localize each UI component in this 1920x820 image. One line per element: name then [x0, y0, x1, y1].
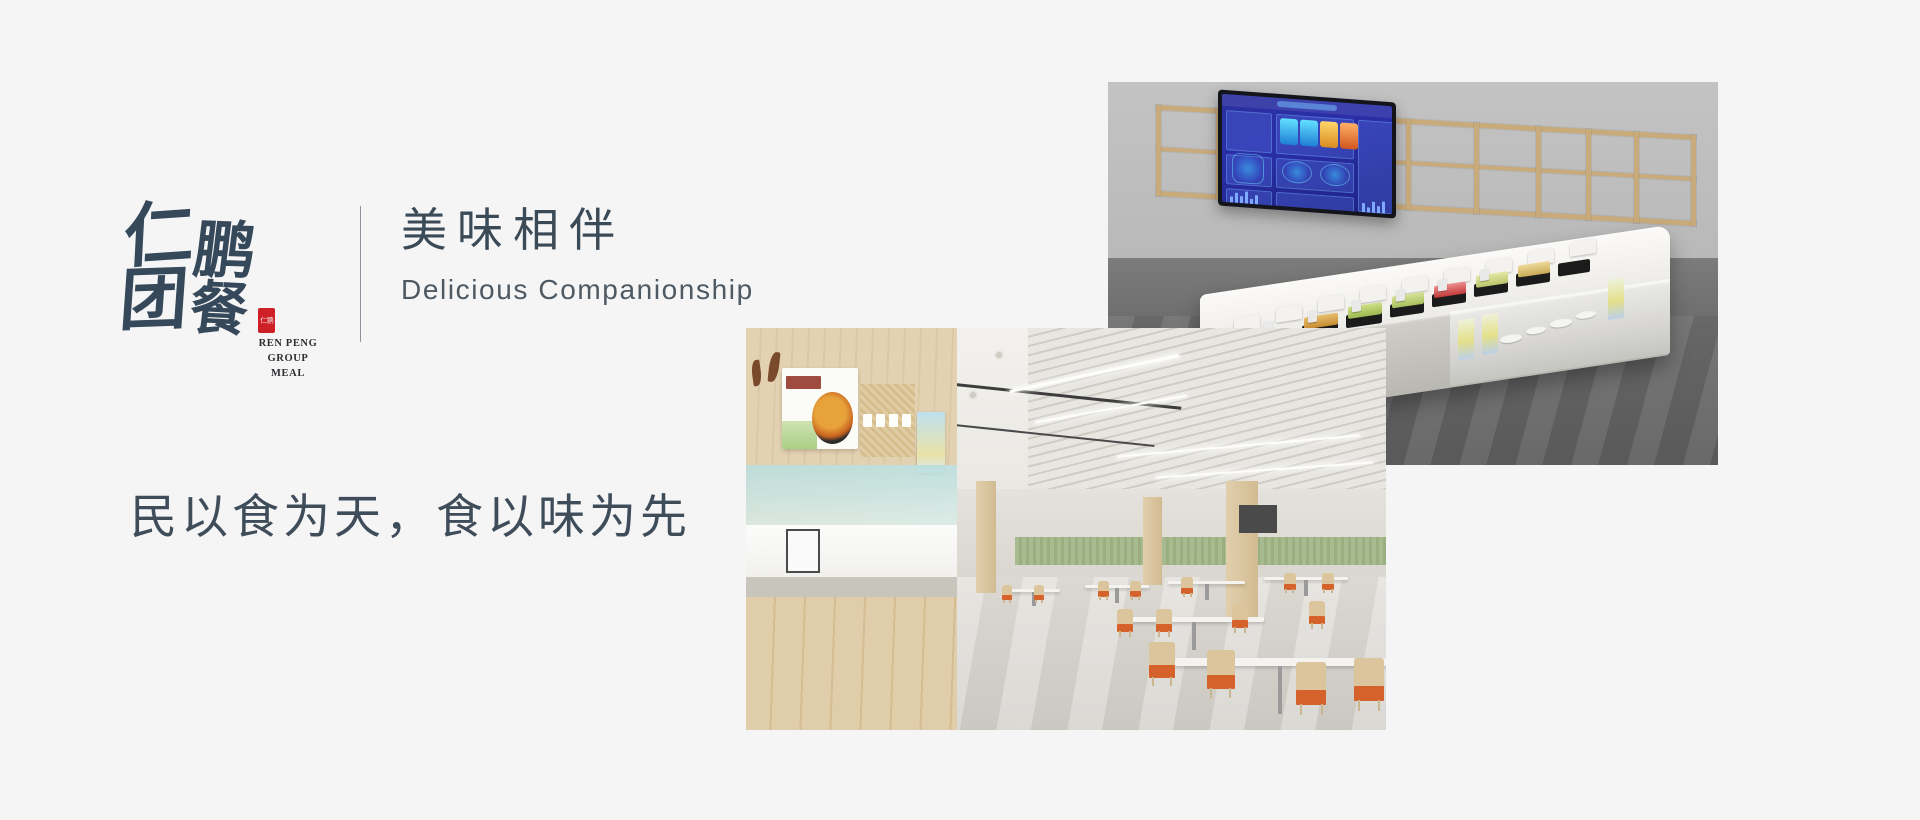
chair [1002, 585, 1012, 602]
counter-name-sign [860, 384, 915, 456]
logo-char-tuan: 团 [118, 265, 191, 335]
brand-divider [360, 206, 361, 342]
brand-subtitle: Delicious Companionship [401, 274, 754, 306]
hero-tagline: 民以食为天，食以味为先 [130, 478, 691, 547]
brand-slogan-group: 美味相伴 Delicious Companionship [401, 196, 754, 306]
counter-wood-cabinets [746, 597, 957, 730]
dashboard-screen [1222, 94, 1392, 214]
chair [1232, 605, 1248, 631]
seal-text: 仁鹏 [260, 317, 274, 324]
brand-lockup: 仁 鹏 团 餐 仁鹏 REN PENG GROUP MEAL 美味相伴 Deli… [128, 196, 754, 348]
company-logo: 仁 鹏 团 餐 仁鹏 REN PENG GROUP MEAL [128, 196, 308, 348]
chair [1296, 662, 1326, 712]
chair [1284, 573, 1296, 592]
hall-column-3 [976, 481, 995, 594]
chair [1354, 658, 1384, 708]
logo-english-line-2: GROUP [252, 351, 324, 366]
chair [1207, 650, 1235, 696]
table-row [1168, 581, 1245, 584]
menu-lightbox-sign [782, 368, 858, 448]
chair [1181, 577, 1193, 596]
chair [1149, 642, 1175, 684]
canteen-interior-image [746, 328, 1386, 730]
hall-column-1 [1226, 481, 1258, 618]
logo-english-line-3: MEAL [252, 366, 324, 381]
chair [1309, 601, 1325, 627]
red-seal-stamp: 仁鹏 [258, 308, 275, 333]
digital-menu-screen [917, 412, 944, 472]
canteen-left-service-wall [746, 328, 957, 730]
logo-char-can: 餐 [187, 279, 252, 340]
hall-column-2 [1143, 497, 1162, 585]
table-row [1264, 577, 1347, 580]
logo-english-name: REN PENG GROUP MEAL [252, 336, 324, 381]
sneeze-guard-glass [746, 465, 957, 525]
green-plant-divider [1015, 537, 1386, 565]
chair [1034, 585, 1044, 602]
logo-english-line-1: REN PENG [252, 336, 324, 351]
hall-wall-tv [1239, 505, 1277, 533]
chair [1322, 573, 1334, 592]
wall-poster-frame [786, 529, 820, 573]
hero-banner: 仁 鹏 团 餐 仁鹏 REN PENG GROUP MEAL 美味相伴 Deli… [0, 0, 1920, 820]
counter-tile-backsplash [746, 525, 957, 577]
dashboard-monitor [1218, 89, 1396, 218]
chair [1156, 609, 1172, 635]
chair [1098, 581, 1109, 599]
brand-title: 美味相伴 [401, 202, 754, 260]
chair [1117, 609, 1133, 635]
counter-stone-top [746, 577, 957, 597]
chair [1130, 581, 1141, 599]
